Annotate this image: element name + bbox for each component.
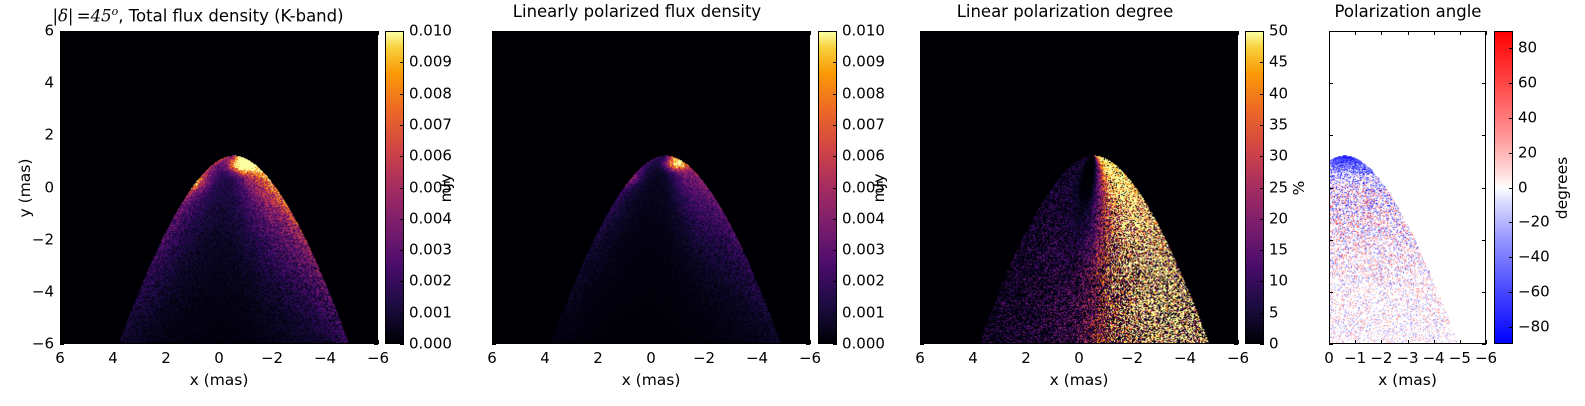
y-tick-right	[374, 135, 378, 136]
x-tick-label: 2	[1021, 351, 1031, 366]
x-tick	[1238, 340, 1239, 344]
colorbar-tick	[1260, 250, 1264, 251]
y-tick	[1329, 135, 1333, 136]
colorbar-tick-label: 20	[1269, 211, 1288, 226]
x-tick-top	[1434, 31, 1435, 35]
colorbar-tick	[1509, 118, 1513, 119]
colorbar-tick-label: 0.003	[842, 243, 885, 258]
colorbar-tick	[1509, 83, 1513, 84]
x-tick-label: −3	[1396, 351, 1418, 366]
x-tick-label: 4	[540, 351, 550, 366]
y-tick	[1329, 344, 1333, 345]
y-tick-right	[1482, 188, 1486, 189]
colorbar-tick-label: −60	[1518, 284, 1550, 299]
colorbar-tick-label: 0.007	[842, 117, 885, 132]
x-tick	[325, 340, 326, 344]
y-tick-label: −6	[26, 337, 54, 352]
colorbar-axis-label: mJy	[870, 173, 888, 202]
y-tick	[60, 240, 64, 241]
y-tick	[1329, 188, 1333, 189]
colorbar-tick-label: 0.009	[842, 55, 885, 70]
x-tick-label: −4	[1423, 351, 1445, 366]
y-tick-right	[374, 31, 378, 32]
y-tick	[1329, 240, 1333, 241]
x-tick	[1486, 340, 1487, 344]
y-tick	[1329, 83, 1333, 84]
x-tick-top	[1486, 31, 1487, 35]
colorbar-tick	[400, 281, 404, 282]
y-tick	[920, 344, 924, 345]
colorbar-tick	[833, 313, 837, 314]
colorbar-tick	[400, 31, 404, 32]
y-tick	[920, 135, 924, 136]
colorbar-tick-label: 50	[1269, 24, 1288, 39]
y-tick-right	[374, 83, 378, 84]
x-tick-top	[704, 31, 705, 35]
colorbar-tick-label: 0.000	[842, 337, 885, 352]
x-tick-label: 0	[646, 351, 656, 366]
y-tick-right	[1234, 188, 1238, 189]
x-tick	[973, 340, 974, 344]
y-tick	[492, 83, 496, 84]
colorbar-tick	[833, 156, 837, 157]
x-tick-top	[113, 31, 114, 35]
colorbar-tick	[1260, 313, 1264, 314]
y-tick-right	[806, 31, 810, 32]
x-tick-label: 6	[55, 351, 65, 366]
y-tick	[920, 31, 924, 32]
x-tick-label: −1	[1344, 351, 1366, 366]
x-tick-top	[219, 31, 220, 35]
x-tick-top	[651, 31, 652, 35]
colorbar-tick	[1509, 257, 1513, 258]
colorbar-tick	[833, 281, 837, 282]
y-tick-right	[1482, 31, 1486, 32]
y-tick-right	[1482, 240, 1486, 241]
polarization-angle-image	[1330, 32, 1485, 343]
y-tick	[1329, 31, 1333, 32]
x-tick-top	[1460, 31, 1461, 35]
y-tick	[492, 135, 496, 136]
colorbar-tick	[1509, 327, 1513, 328]
y-tick	[492, 188, 496, 189]
x-tick	[1079, 340, 1080, 344]
x-tick	[1408, 340, 1409, 344]
polarization-degree-image	[921, 32, 1237, 343]
x-tick-label: −6	[1227, 351, 1249, 366]
x-tick-label: 0	[1074, 351, 1084, 366]
colorbar-tick-label: 0.004	[409, 211, 452, 226]
y-tick-label: 6	[26, 24, 54, 39]
y-tick	[920, 240, 924, 241]
colorbar-tick	[833, 125, 837, 126]
plot-area-polarization-angle	[1329, 31, 1486, 344]
y-tick	[920, 83, 924, 84]
x-tick-top	[1355, 31, 1356, 35]
colorbar-tick	[1260, 125, 1264, 126]
colorbar-tick	[1509, 222, 1513, 223]
x-tick-label: 6	[915, 351, 925, 366]
x-tick-label: −6	[1475, 351, 1497, 366]
y-tick	[60, 344, 64, 345]
panel-title-2: Linearly polarized flux density	[462, 2, 812, 22]
colorbar-tick-label: −20	[1518, 215, 1550, 230]
x-axis-label: x (mas)	[1378, 371, 1437, 389]
y-tick-right	[806, 83, 810, 84]
colorbar-tick	[1509, 188, 1513, 189]
colorbar-tick-label: 5	[1269, 305, 1279, 320]
x-tick-label: −4	[746, 351, 768, 366]
colorbar-tick	[400, 94, 404, 95]
colorbar-axis-label: degrees	[1553, 156, 1571, 218]
x-tick-top	[1185, 31, 1186, 35]
x-tick-top	[757, 31, 758, 35]
colorbar-tick-label: −40	[1518, 250, 1550, 265]
colorbar-tick	[833, 344, 837, 345]
plot-area-polarized-flux	[492, 31, 810, 344]
colorbar-tick-label: 0.007	[409, 117, 452, 132]
x-tick-label: −2	[261, 351, 283, 366]
panel-title-4: Polarization angle	[1308, 2, 1508, 22]
colorbar-tick	[400, 313, 404, 314]
x-tick-label: 4	[968, 351, 978, 366]
x-tick-top	[1381, 31, 1382, 35]
colorbar-tick	[400, 62, 404, 63]
colorbar-tick-label: 0.009	[409, 55, 452, 70]
y-tick-right	[374, 188, 378, 189]
x-tick-label: 0	[1324, 351, 1334, 366]
x-tick	[1026, 340, 1027, 344]
colorbar-tick	[400, 250, 404, 251]
x-tick	[810, 340, 811, 344]
x-tick	[757, 340, 758, 344]
x-tick	[598, 340, 599, 344]
colorbar-tick-label: 45	[1269, 55, 1288, 70]
x-tick-top	[325, 31, 326, 35]
x-tick	[113, 340, 114, 344]
colorbar-tick	[1260, 344, 1264, 345]
x-tick	[1460, 340, 1461, 344]
x-tick-top	[1238, 31, 1239, 35]
x-tick	[1132, 340, 1133, 344]
x-tick-label: −2	[1370, 351, 1392, 366]
colorbar-axis-label: %	[1290, 180, 1308, 195]
x-tick	[166, 340, 167, 344]
y-tick-right	[806, 240, 810, 241]
x-tick-top	[810, 31, 811, 35]
colorbar-tick	[1260, 156, 1264, 157]
x-tick	[651, 340, 652, 344]
colorbar-tick	[400, 344, 404, 345]
x-tick	[272, 340, 273, 344]
colorbar-tick-label: 0.008	[842, 86, 885, 101]
colorbar-tick-label: 20	[1518, 145, 1537, 160]
colorbar-tick	[1260, 219, 1264, 220]
polarized-flux-image	[493, 32, 809, 343]
colorbar-tick-label: 30	[1269, 149, 1288, 164]
y-tick	[60, 31, 64, 32]
y-tick-right	[806, 188, 810, 189]
colorbar-tick	[1260, 31, 1264, 32]
y-tick	[60, 83, 64, 84]
x-tick-label: 2	[593, 351, 603, 366]
colorbar-tick	[1509, 153, 1513, 154]
colorbar-tick-label: −80	[1518, 319, 1550, 334]
x-tick-label: −2	[693, 351, 715, 366]
x-tick-top	[598, 31, 599, 35]
colorbar-tick-label: 0	[1518, 180, 1528, 195]
x-tick-label: 0	[214, 351, 224, 366]
y-tick	[920, 188, 924, 189]
x-tick-label: −2	[1121, 351, 1143, 366]
y-tick-right	[374, 292, 378, 293]
y-tick-right	[1234, 344, 1238, 345]
colorbar-tick	[833, 62, 837, 63]
colorbar-tick-label: 0.003	[409, 243, 452, 258]
y-tick-right	[1482, 344, 1486, 345]
y-tick	[1329, 292, 1333, 293]
colorbar-tick-label: 40	[1518, 110, 1537, 125]
colorbar-tick	[833, 219, 837, 220]
colorbar-tick	[1260, 94, 1264, 95]
colorbar-axis-label: mJy	[437, 173, 455, 202]
y-tick-right	[806, 344, 810, 345]
x-tick-label: 4	[108, 351, 118, 366]
colorbar-tick	[833, 31, 837, 32]
colorbar-tick	[400, 125, 404, 126]
y-tick-label: −4	[26, 284, 54, 299]
colorbar-tick-label: 0.004	[842, 211, 885, 226]
x-tick-top	[973, 31, 974, 35]
colorbar-tick-label: 0	[1269, 337, 1279, 352]
x-tick	[1381, 340, 1382, 344]
y-tick-label: 4	[26, 76, 54, 91]
y-tick-right	[806, 292, 810, 293]
x-tick-label: −5	[1449, 351, 1471, 366]
x-tick	[1434, 340, 1435, 344]
y-axis-label: y (mas)	[16, 158, 34, 217]
colorbar-tick	[1260, 281, 1264, 282]
colorbar-tick-label: 60	[1518, 76, 1537, 91]
x-tick-top	[1026, 31, 1027, 35]
x-tick	[704, 340, 705, 344]
colorbar-tick-label: 80	[1518, 41, 1537, 56]
polarization-figure: |δ| =45o, Total flux density (K-band) Li…	[0, 0, 1585, 406]
x-tick	[219, 340, 220, 344]
colorbar-tick-label: 0.000	[409, 337, 452, 352]
colorbar-tick	[1509, 292, 1513, 293]
colorbar-tick-label: 0.001	[842, 305, 885, 320]
x-tick-label: 2	[161, 351, 171, 366]
y-tick-right	[374, 344, 378, 345]
x-tick	[545, 340, 546, 344]
x-tick-top	[272, 31, 273, 35]
x-axis-label: x (mas)	[1050, 371, 1109, 389]
colorbar-tick-label: 0.006	[842, 149, 885, 164]
x-tick-top	[1079, 31, 1080, 35]
y-tick	[60, 188, 64, 189]
y-tick-label: −2	[26, 232, 54, 247]
y-tick-right	[374, 240, 378, 241]
colorbar-tick-label: 15	[1269, 243, 1288, 258]
x-tick	[1355, 340, 1356, 344]
colorbar-tick-label: 0.010	[842, 24, 885, 39]
x-tick-label: 6	[487, 351, 497, 366]
y-tick	[492, 344, 496, 345]
colorbar-tick	[833, 94, 837, 95]
colorbar-tick	[833, 250, 837, 251]
x-tick	[1185, 340, 1186, 344]
y-tick-right	[1234, 31, 1238, 32]
x-tick-label: −6	[799, 351, 821, 366]
x-tick-label: −4	[314, 351, 336, 366]
colorbar-tick	[400, 156, 404, 157]
plot-area-polarization-degree	[920, 31, 1238, 344]
colorbar-tick	[400, 219, 404, 220]
x-tick-top	[378, 31, 379, 35]
x-tick-top	[1132, 31, 1133, 35]
x-tick-label: −4	[1174, 351, 1196, 366]
y-tick-right	[1234, 292, 1238, 293]
y-tick	[920, 292, 924, 293]
colorbar-tick	[1260, 188, 1264, 189]
colorbar-tick	[833, 188, 837, 189]
x-tick-top	[166, 31, 167, 35]
y-tick-right	[806, 135, 810, 136]
y-tick	[60, 292, 64, 293]
x-tick-label: −6	[367, 351, 389, 366]
y-tick-right	[1234, 240, 1238, 241]
x-tick-top	[545, 31, 546, 35]
colorbar-tick-label: 0.010	[409, 24, 452, 39]
colorbar-tick-label: 35	[1269, 117, 1288, 132]
y-tick-right	[1234, 83, 1238, 84]
y-tick-right	[1234, 135, 1238, 136]
x-axis-label: x (mas)	[622, 371, 681, 389]
colorbar-tick-label: 25	[1269, 180, 1288, 195]
colorbar-tick-label: 0.001	[409, 305, 452, 320]
colorbar-tick	[1260, 62, 1264, 63]
colorbar-tick-label: 0.008	[409, 86, 452, 101]
panel-title-3: Linear polarization degree	[890, 2, 1240, 22]
colorbar-tick-label: 0.002	[842, 274, 885, 289]
colorbar-tick-label: 0.002	[409, 274, 452, 289]
y-tick	[492, 31, 496, 32]
y-tick-label: 2	[26, 128, 54, 143]
colorbar-tick	[1509, 48, 1513, 49]
colorbar-tick-label: 40	[1269, 86, 1288, 101]
y-tick	[60, 135, 64, 136]
y-tick-right	[1482, 292, 1486, 293]
colorbar-tick-label: 10	[1269, 274, 1288, 289]
x-tick	[378, 340, 379, 344]
y-tick	[492, 240, 496, 241]
x-axis-label: x (mas)	[190, 371, 249, 389]
y-tick-right	[1482, 135, 1486, 136]
x-tick-top	[1408, 31, 1409, 35]
y-tick-right	[1482, 83, 1486, 84]
colorbar-tick	[400, 188, 404, 189]
y-tick	[492, 292, 496, 293]
colorbar-tick-label: 0.006	[409, 149, 452, 164]
